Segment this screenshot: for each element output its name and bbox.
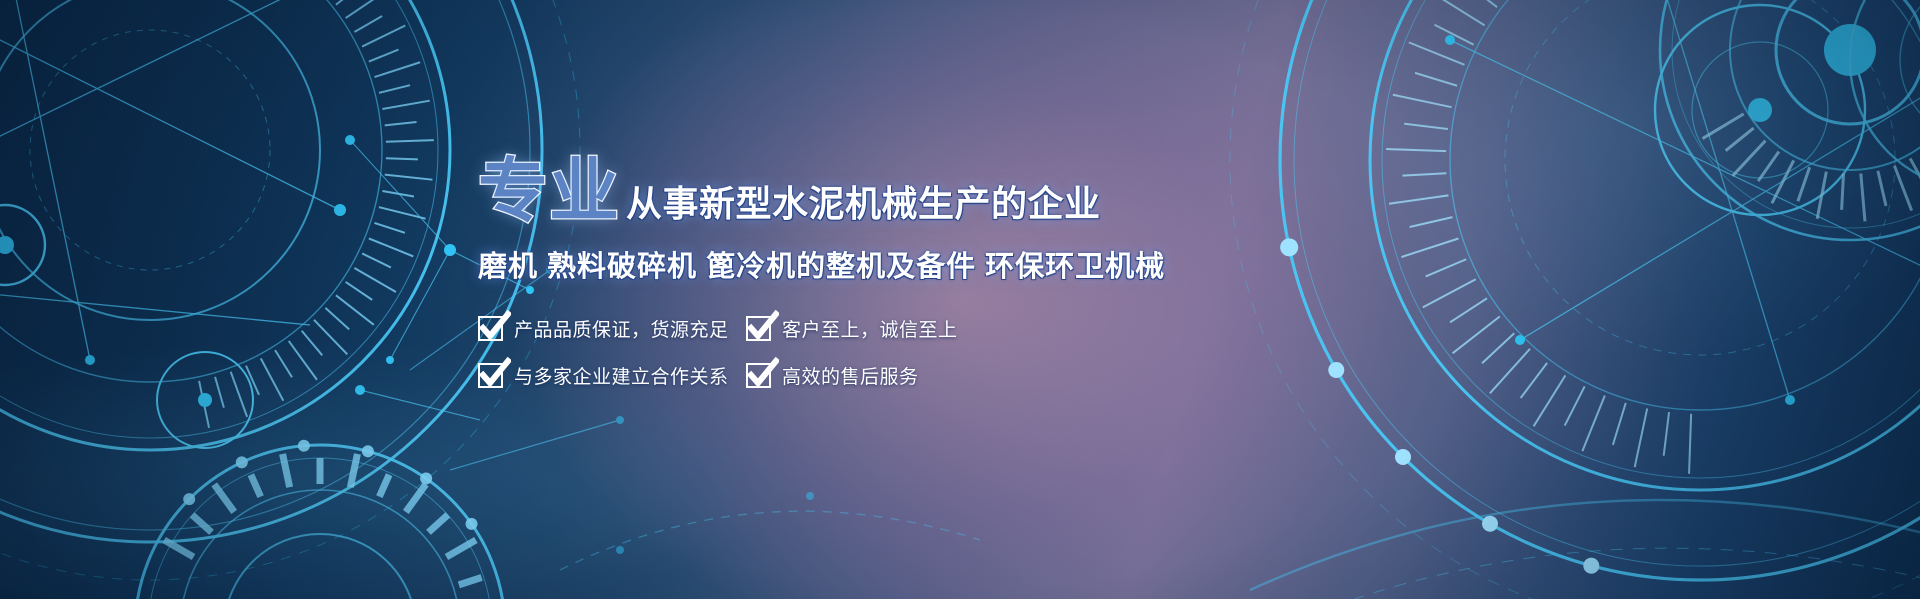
check-icon bbox=[746, 363, 771, 388]
feature-item: 产品品质保证，货源充足 bbox=[478, 315, 746, 342]
hero-banner: 专业 从事新型水泥机械生产的企业 磨机 熟料破碎机 篦冷机的整机及备件 环保环卫… bbox=[0, 0, 1920, 599]
headline-primary: 专业 bbox=[478, 157, 620, 226]
headline-secondary: 从事新型水泥机械生产的企业 bbox=[626, 186, 1101, 226]
feature-item: 高效的售后服务 bbox=[746, 362, 1098, 389]
product-subline: 磨机 熟料破碎机 篦冷机的整机及备件 环保环卫机械 bbox=[478, 243, 1098, 285]
feature-item: 客户至上，诚信至上 bbox=[746, 315, 1098, 342]
check-icon bbox=[478, 363, 503, 388]
feature-label: 与多家企业建立合作关系 bbox=[514, 362, 729, 389]
feature-item: 与多家企业建立合作关系 bbox=[478, 362, 746, 389]
bottom-center-dash-artwork bbox=[560, 430, 980, 599]
far-right-circle-artwork bbox=[1830, 0, 1920, 210]
feature-label: 高效的售后服务 bbox=[782, 362, 919, 389]
headline-row: 专业 从事新型水泥机械生产的企业 bbox=[478, 152, 1098, 226]
upper-right-gear-artwork bbox=[1600, 0, 1920, 300]
feature-list: 产品品质保证，货源充足 客户至上，诚信至上 与多家企业建立合作关系 bbox=[478, 315, 1098, 389]
bottom-right-arc-artwork bbox=[1250, 330, 1920, 599]
banner-content: 专业 从事新型水泥机械生产的企业 磨机 熟料破碎机 篦冷机的整机及备件 环保环卫… bbox=[478, 152, 1098, 389]
check-icon bbox=[746, 316, 771, 341]
feature-label: 产品品质保证，货源充足 bbox=[514, 315, 729, 342]
right-hud-artwork bbox=[1200, 0, 1920, 599]
check-icon bbox=[478, 316, 503, 341]
feature-label: 客户至上，诚信至上 bbox=[782, 315, 958, 342]
